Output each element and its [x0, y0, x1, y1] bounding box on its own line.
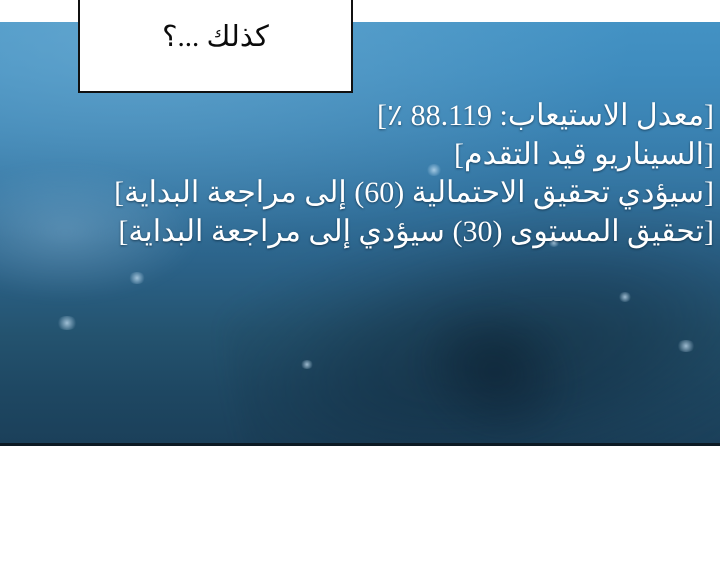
overlay-line-level-threshold: [تحقيق المستوى (30) سيؤدي إلى مراجعة الب… [6, 214, 714, 251]
scenario-overlay-text: [معدل الاستيعاب: 88.119 ٪] [السيناريو قي… [6, 98, 714, 252]
page-background: [معدل الاستيعاب: 88.119 ٪] [السيناريو قي… [0, 0, 720, 588]
overlay-line-probability-threshold: [سيؤدي تحقيق الاحتمالية (60) إلى مراجعة … [6, 175, 714, 212]
light-mote [676, 340, 696, 352]
overlay-line-absorption-rate: [معدل الاستيعاب: 88.119 ٪] [6, 98, 714, 135]
speech-bubble-text: كذلك ...؟ [162, 22, 269, 68]
speech-bubble: كذلك ...؟ [78, 0, 353, 93]
light-mote [128, 272, 146, 284]
light-mote [56, 316, 78, 330]
light-mote [300, 360, 314, 369]
light-mote [618, 292, 632, 302]
overlay-line-scenario-status: [السيناريو قيد التقدم] [6, 137, 714, 174]
whale-tail-silhouette [350, 236, 640, 446]
